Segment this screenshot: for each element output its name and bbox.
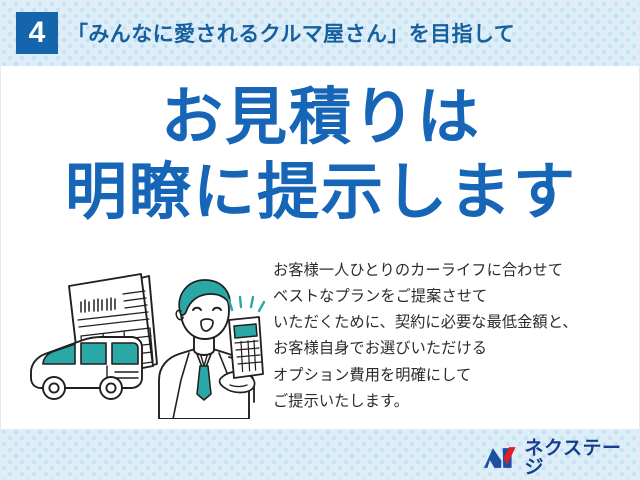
promo-banner: 4 「みんなに愛されるクルマ屋さん」を目指して お見積りは 明瞭に提示します: [0, 0, 640, 480]
calculator-illustration: [229, 297, 264, 378]
body-copy-line-3: いただくために、契約に必要な最低金額と、: [273, 310, 639, 336]
body-copy-line-2: ベストなプランをご提案させて: [273, 284, 639, 310]
illustration: [23, 254, 273, 419]
nextage-n-mark-icon: [483, 446, 517, 470]
body-copy-line-4: お客様自身でお選びいただける: [273, 336, 639, 362]
illustration-svg: [23, 254, 273, 419]
headline-line-2: 明瞭に提示します: [1, 158, 640, 227]
van-illustration: [31, 337, 142, 399]
body-copy-line-6: ご提示いたします。: [273, 389, 639, 415]
header-title: 「みんなに愛されるクルマ屋さん」を目指して: [67, 18, 515, 48]
nextage-logo: ネクステージ: [483, 445, 639, 471]
body-copy: お客様一人ひとりのカーライフに合わせて ベストなプランをご提案させて いただくた…: [273, 258, 639, 415]
section-number-badge: 4: [16, 12, 58, 54]
nextage-wordmark: ネクステージ: [525, 439, 639, 477]
headline: お見積りは 明瞭に提示します: [1, 83, 640, 228]
body-copy-line-1: お客様一人ひとりのカーライフに合わせて: [273, 258, 639, 284]
body-copy-line-5: オプション費用を明確にして: [273, 363, 639, 389]
headline-line-1: お見積りは: [1, 83, 640, 152]
main-content: お見積りは 明瞭に提示します: [1, 66, 640, 429]
